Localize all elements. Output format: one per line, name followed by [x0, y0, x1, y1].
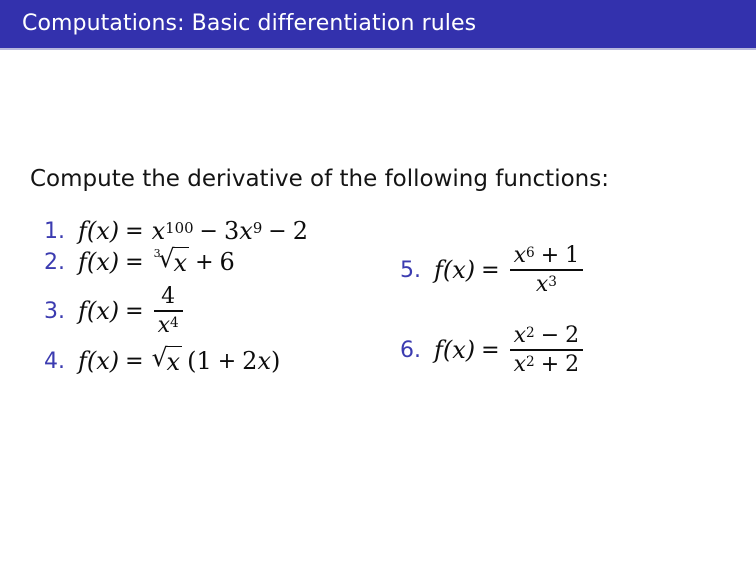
fraction-denominator: x4	[154, 314, 183, 337]
equals-sign: =	[125, 299, 143, 324]
denominator-term: 2	[565, 353, 579, 376]
constant-term: 6	[220, 248, 235, 276]
title-bar-divider	[0, 48, 756, 50]
exercise-column-right: 5. f(x) = x6 + 1 x3	[400, 216, 700, 390]
root-index: 3	[154, 247, 161, 260]
close-paren: )	[271, 347, 280, 375]
term: 1	[196, 347, 211, 375]
cube-root-icon: 3 √ x	[152, 247, 189, 277]
minus-operator: −	[200, 219, 218, 244]
list-item-number: 6.	[400, 338, 424, 363]
list-item: 4. f(x) = √ x ( 1 + 2x )	[44, 344, 394, 378]
exercise-prompt: Compute the derivative of the following …	[30, 166, 609, 192]
radicand: x	[166, 346, 183, 376]
fraction: 4 x4	[154, 285, 183, 337]
list-item-number: 1.	[44, 219, 68, 244]
numerator-term: 2	[565, 324, 579, 347]
equals-sign: =	[481, 258, 499, 283]
page-title: Computations: Basic differentiation rule…	[22, 11, 476, 36]
formula-lhs: f(x)	[434, 256, 475, 284]
coefficient: 2	[242, 347, 257, 375]
plus-operator: +	[195, 250, 213, 275]
coefficient: 3	[224, 217, 239, 245]
fraction-bar	[154, 310, 183, 312]
numerator-base: x	[514, 324, 526, 347]
fraction-denominator: x2 + 2	[510, 353, 584, 376]
slide: Computations: Basic differentiation rule…	[0, 0, 756, 567]
formula-lhs: f(x)	[78, 297, 119, 325]
plus-operator: +	[218, 349, 236, 374]
fraction-bar	[510, 269, 584, 271]
exercise-column-left: 1. f(x) = x100 − 3x9 − 2 2. f(x) =	[44, 216, 394, 378]
term-base: x	[152, 217, 166, 245]
fraction: x6 + 1 x3	[510, 244, 584, 296]
square-root-icon: √ x	[152, 346, 182, 376]
formula-3: f(x) = 4 x4	[78, 285, 185, 337]
equals-sign: =	[125, 349, 143, 374]
constant-term: 2	[293, 217, 308, 245]
plus-operator: +	[541, 353, 559, 376]
formula-2: f(x) = 3 √ x + 6	[78, 247, 235, 277]
formula-6: f(x) = x2 − 2 x2 + 2	[434, 324, 585, 376]
list-item-number: 5.	[400, 258, 424, 283]
minus-operator: −	[541, 324, 559, 347]
variable: x	[257, 347, 271, 375]
minus-operator: −	[268, 219, 286, 244]
denominator-base: x	[158, 314, 170, 337]
list-item: 3. f(x) = 4 x4	[44, 278, 394, 344]
equals-sign: =	[125, 219, 143, 244]
formula-lhs: f(x)	[78, 217, 119, 245]
numerator-value: 4	[161, 285, 175, 308]
numerator-base: x	[514, 244, 526, 267]
denominator-base: x	[536, 273, 548, 296]
list-item: 2. f(x) = 3 √ x + 6	[44, 246, 394, 278]
fraction: x2 − 2 x2 + 2	[510, 324, 584, 376]
list-item-number: 4.	[44, 349, 68, 374]
fraction-numerator: x6 + 1	[510, 244, 584, 267]
formula-5: f(x) = x6 + 1 x3	[434, 244, 585, 296]
formula-lhs: f(x)	[434, 336, 475, 364]
list-item-number: 3.	[44, 299, 68, 324]
fraction-numerator: 4	[157, 285, 179, 308]
formula-4: f(x) = √ x ( 1 + 2x )	[78, 346, 280, 376]
denominator-base: x	[514, 353, 526, 376]
list-item: 6. f(x) = x2 − 2 x2 + 2	[400, 310, 700, 390]
fraction-denominator: x3	[532, 273, 561, 296]
radicand: x	[173, 247, 190, 277]
formula-lhs: f(x)	[78, 248, 119, 276]
list-item: 1. f(x) = x100 − 3x9 − 2	[44, 216, 394, 246]
list-item-number: 2.	[44, 250, 68, 275]
list-item: 5. f(x) = x6 + 1 x3	[400, 230, 700, 310]
numerator-term: 1	[565, 244, 579, 267]
fraction-bar	[510, 349, 584, 351]
fraction-numerator: x2 − 2	[510, 324, 584, 347]
formula-lhs: f(x)	[78, 347, 119, 375]
formula-1: f(x) = x100 − 3x9 − 2	[78, 217, 308, 245]
frame-title-bar: Computations: Basic differentiation rule…	[0, 0, 756, 48]
equals-sign: =	[125, 250, 143, 275]
open-paren: (	[187, 347, 196, 375]
equals-sign: =	[481, 338, 499, 363]
plus-operator: +	[541, 244, 559, 267]
term-base: x	[239, 217, 253, 245]
